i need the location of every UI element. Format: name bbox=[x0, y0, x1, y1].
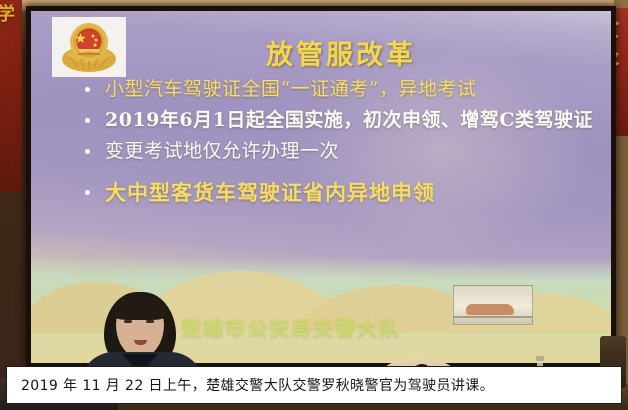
speaker-eye-right bbox=[146, 320, 154, 323]
wall-banner-left: 学 bbox=[0, 0, 22, 192]
photo-caption-text: 2019 年 11 月 22 日上午，楚雄交警大队交警罗秋晓警官为驾驶员讲课。 bbox=[21, 375, 494, 395]
slide-inset-road bbox=[454, 316, 532, 318]
slide-title: 放管服改革 bbox=[31, 33, 611, 72]
photo-caption-bar: 2019 年 11 月 22 日上午，楚雄交警大队交警罗秋晓警官为驾驶员讲课。 bbox=[6, 366, 622, 404]
wall-banner-left-text: 学 bbox=[0, 0, 13, 22]
slide-bullet-4: 大中型客货车驾驶证省内异地申领 bbox=[79, 180, 599, 205]
water-bottle-cap bbox=[536, 356, 544, 361]
slide-org-footer: 楚雄市公安局交警大队 bbox=[181, 312, 401, 341]
slide-inset-car-shape bbox=[466, 304, 514, 315]
screenshot-root: 学 全長 bbox=[0, 0, 628, 410]
slide-bullet-list: 小型汽车驾驶证全国“一证通考”，异地考试 2019年6月1日起全国实施，初次申领… bbox=[79, 77, 599, 211]
speaker-eye-left bbox=[124, 320, 132, 323]
slide-bullet-3: 变更考试地仅允许办理一次 bbox=[79, 139, 599, 164]
slide-bullet-2: 2019年6月1日起全国实施，初次申领、增驾C类驾驶证 bbox=[79, 108, 599, 133]
slide-inset-photo bbox=[453, 285, 533, 325]
slide-bullet-1: 小型汽车驾驶证全国“一证通考”，异地考试 bbox=[79, 77, 599, 102]
